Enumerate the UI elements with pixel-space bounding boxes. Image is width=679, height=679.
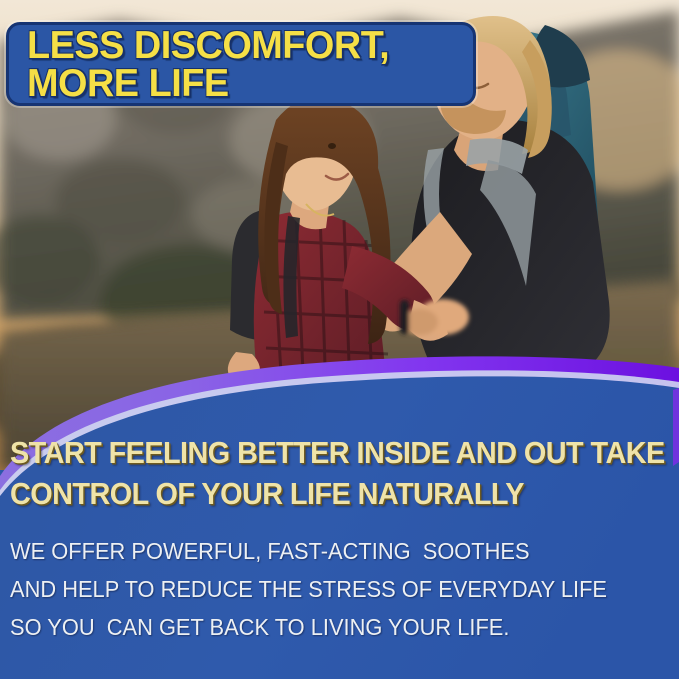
- badge-line-2: MORE LIFE: [27, 65, 460, 103]
- copy-block: START FEELING BETTER INSIDE AND OUT TAKE…: [0, 432, 679, 646]
- body-line-1: WE OFFER POWERFUL, FAST-ACTING SOOTHES: [10, 532, 646, 570]
- headline-badge: LESS DISCOMFORT, MORE LIFE: [6, 22, 476, 106]
- body-copy: WE OFFER POWERFUL, FAST-ACTING SOOTHES A…: [10, 532, 679, 646]
- body-line-2: AND HELP TO REDUCE THE STRESS OF EVERYDA…: [10, 570, 646, 608]
- badge-line-1: LESS DISCOMFORT,: [27, 27, 460, 65]
- headline-line-2: CONTROL OF YOUR LIFE NATURALLY: [10, 473, 632, 514]
- body-line-3: SO YOU CAN GET BACK TO LIVING YOUR LIFE.: [10, 608, 646, 646]
- advertisement-banner: LESS DISCOMFORT, MORE LIFE: [0, 0, 679, 679]
- headline-line-1: START FEELING BETTER INSIDE AND OUT TAKE: [10, 432, 632, 473]
